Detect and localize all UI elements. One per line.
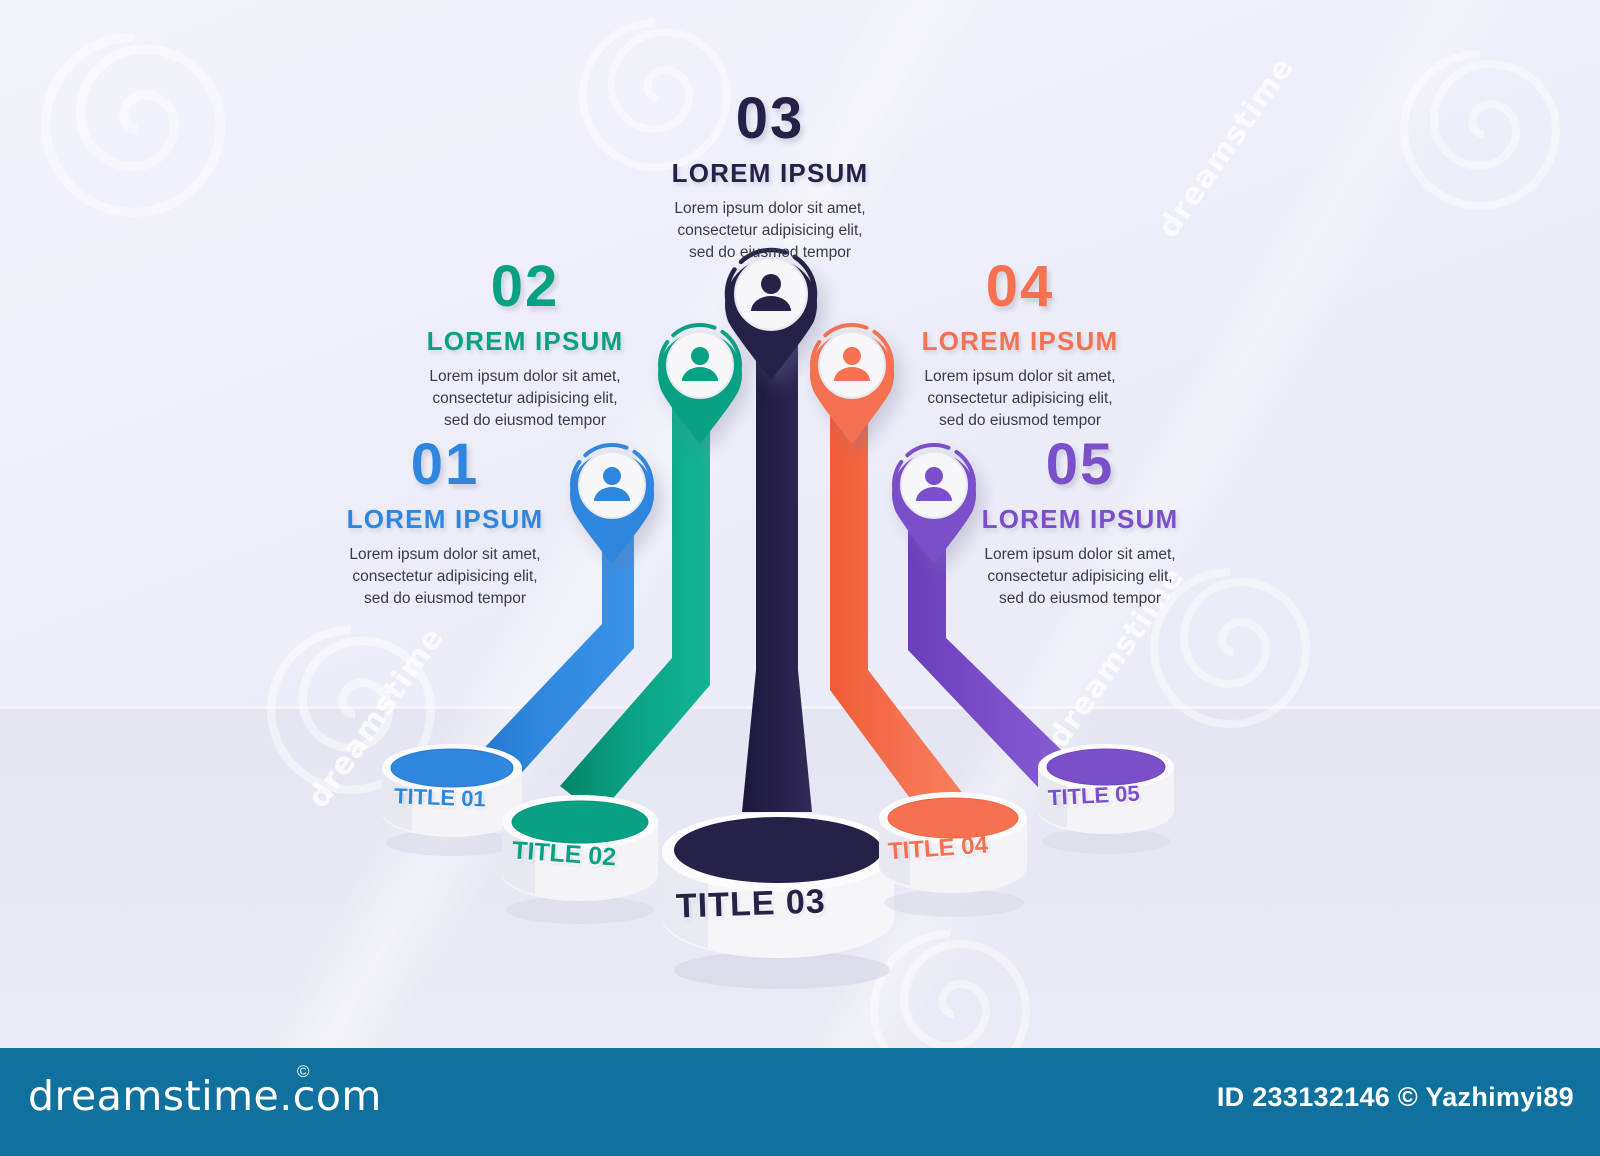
desc-line: consectetur adipisicing elit, (960, 566, 1200, 588)
step-number-04: 04 (900, 258, 1140, 316)
step-title-01: LOREM IPSUM (330, 504, 560, 535)
desc-line: Lorem ipsum dolor sit amet, (900, 366, 1140, 388)
step-number-05: 05 (960, 436, 1200, 494)
image-credit: ID 233132146 © Yazhimyi89 (1217, 1082, 1574, 1113)
pin-marker-04[interactable] (802, 318, 902, 446)
desc-line: sed do eiusmod tempor (650, 242, 890, 264)
desc-line: consectetur adipisicing elit, (330, 566, 560, 588)
registered-mark-icon: © (297, 1062, 310, 1082)
step-description-02: Lorem ipsum dolor sit amet, consectetur … (410, 366, 640, 432)
step-description-01: Lorem ipsum dolor sit amet, consectetur … (330, 544, 560, 610)
podium-label-03: TITLE 03 (675, 882, 826, 926)
podium-label-01: TITLE 01 (394, 783, 487, 812)
step-number-03: 03 (650, 90, 890, 148)
desc-line: consectetur adipisicing elit, (410, 388, 640, 410)
step-block-03: 03 LOREM IPSUM Lorem ipsum dolor sit ame… (650, 90, 890, 264)
desc-line: consectetur adipisicing elit, (900, 388, 1140, 410)
step-title-05: LOREM IPSUM (960, 504, 1200, 535)
podium-02[interactable]: TITLE 02 (490, 788, 670, 928)
desc-line: sed do eiusmod tempor (960, 588, 1200, 610)
dreamstime-logo[interactable]: dreamstime.com (28, 1072, 382, 1120)
step-title-03: LOREM IPSUM (650, 158, 890, 189)
pin-marker-01[interactable] (562, 438, 662, 566)
step-number-02: 02 (410, 258, 640, 316)
step-block-04: 04 LOREM IPSUM Lorem ipsum dolor sit ame… (900, 258, 1140, 432)
step-description-04: Lorem ipsum dolor sit amet, consectetur … (900, 366, 1140, 432)
desc-line: Lorem ipsum dolor sit amet, (960, 544, 1200, 566)
desc-line: consectetur adipisicing elit, (650, 220, 890, 242)
desc-line: sed do eiusmod tempor (330, 588, 560, 610)
step-description-05: Lorem ipsum dolor sit amet, consectetur … (960, 544, 1200, 610)
desc-line: Lorem ipsum dolor sit amet, (330, 544, 560, 566)
desc-line: Lorem ipsum dolor sit amet, (410, 366, 640, 388)
step-title-02: LOREM IPSUM (410, 326, 640, 357)
step-block-05: 05 LOREM IPSUM Lorem ipsum dolor sit ame… (960, 436, 1200, 610)
step-block-01: 01 LOREM IPSUM Lorem ipsum dolor sit ame… (330, 436, 560, 610)
podium-05[interactable]: TITLE 05 (1028, 738, 1183, 856)
podium-label-05: TITLE 05 (1047, 781, 1140, 812)
desc-line: sed do eiusmod tempor (410, 410, 640, 432)
podium-04[interactable]: TITLE 04 (868, 785, 1038, 920)
step-title-04: LOREM IPSUM (900, 326, 1140, 357)
step-description-03: Lorem ipsum dolor sit amet, consectetur … (650, 198, 890, 264)
step-block-02: 02 LOREM IPSUM Lorem ipsum dolor sit ame… (410, 258, 640, 432)
step-number-01: 01 (330, 436, 560, 494)
infographic-canvas: dreamstime dreamstime dreamstime (0, 0, 1600, 1156)
desc-line: sed do eiusmod tempor (900, 410, 1140, 432)
desc-line: Lorem ipsum dolor sit amet, (650, 198, 890, 220)
